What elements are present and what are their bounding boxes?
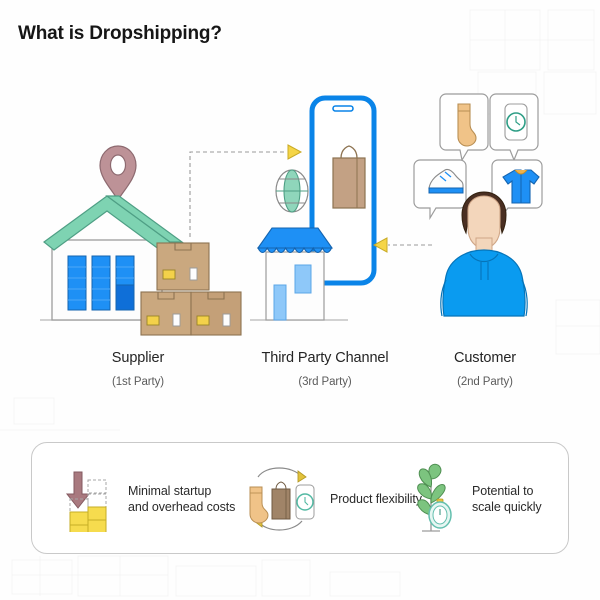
customer-subtitle: (2nd Party): [415, 372, 555, 392]
flow-illustration: [0, 80, 600, 340]
benefit-item-scale-quickly: Potential to scale quickly: [406, 443, 542, 555]
node-labels: Supplier (1st Party) Third Party Channel…: [0, 348, 600, 404]
benefit-item-minimal-startup-costs: Minimal startup and overhead costs: [58, 443, 235, 555]
node-label-third-party-channel: Third Party Channel (3rd Party): [240, 348, 410, 392]
socks-product-icon: [250, 487, 268, 523]
supplier-subtitle: (1st Party): [58, 372, 218, 392]
channel-subtitle: (3rd Party): [240, 372, 410, 392]
node-label-supplier: Supplier (1st Party): [58, 348, 218, 392]
watch-product-icon: [296, 485, 314, 519]
supplier-title: Supplier: [58, 348, 218, 368]
person-icon: [441, 192, 527, 316]
supplier-illustration: [40, 146, 241, 335]
benefit-item-product-flexibility: Product flexibility: [236, 443, 422, 555]
channel-title: Third Party Channel: [240, 348, 410, 368]
customer-title: Customer: [415, 348, 555, 368]
benefits-panel: Minimal startup and overhead costs: [31, 442, 569, 554]
rotating-products-icon: [236, 459, 322, 539]
stopwatch-icon: [429, 499, 451, 528]
customer-illustration: [414, 94, 542, 316]
socks-bubble: [440, 94, 488, 160]
watch-bubble: [490, 94, 538, 160]
globe-icon: [276, 170, 308, 212]
bag-product-icon: [272, 482, 290, 519]
arrow-customer-to-channel: [374, 238, 432, 252]
third-party-channel-illustration: [250, 98, 374, 320]
benefit-label-0: Minimal startup and overhead costs: [128, 483, 235, 515]
warehouse-doors: [68, 256, 134, 310]
watch-icon: [505, 104, 527, 140]
page-title: What is Dropshipping?: [18, 23, 222, 45]
location-pin-icon: [100, 146, 136, 200]
sneaker-bubble: [414, 160, 466, 218]
node-label-customer: Customer (2nd Party): [415, 348, 555, 392]
dropshipping-infographic: What is Dropshipping?: [0, 0, 600, 600]
growing-plant-stopwatch-icon: [406, 459, 464, 539]
down-arrow-stacked-blocks-icon: [58, 466, 120, 532]
benefit-label-2: Potential to scale quickly: [472, 483, 542, 515]
